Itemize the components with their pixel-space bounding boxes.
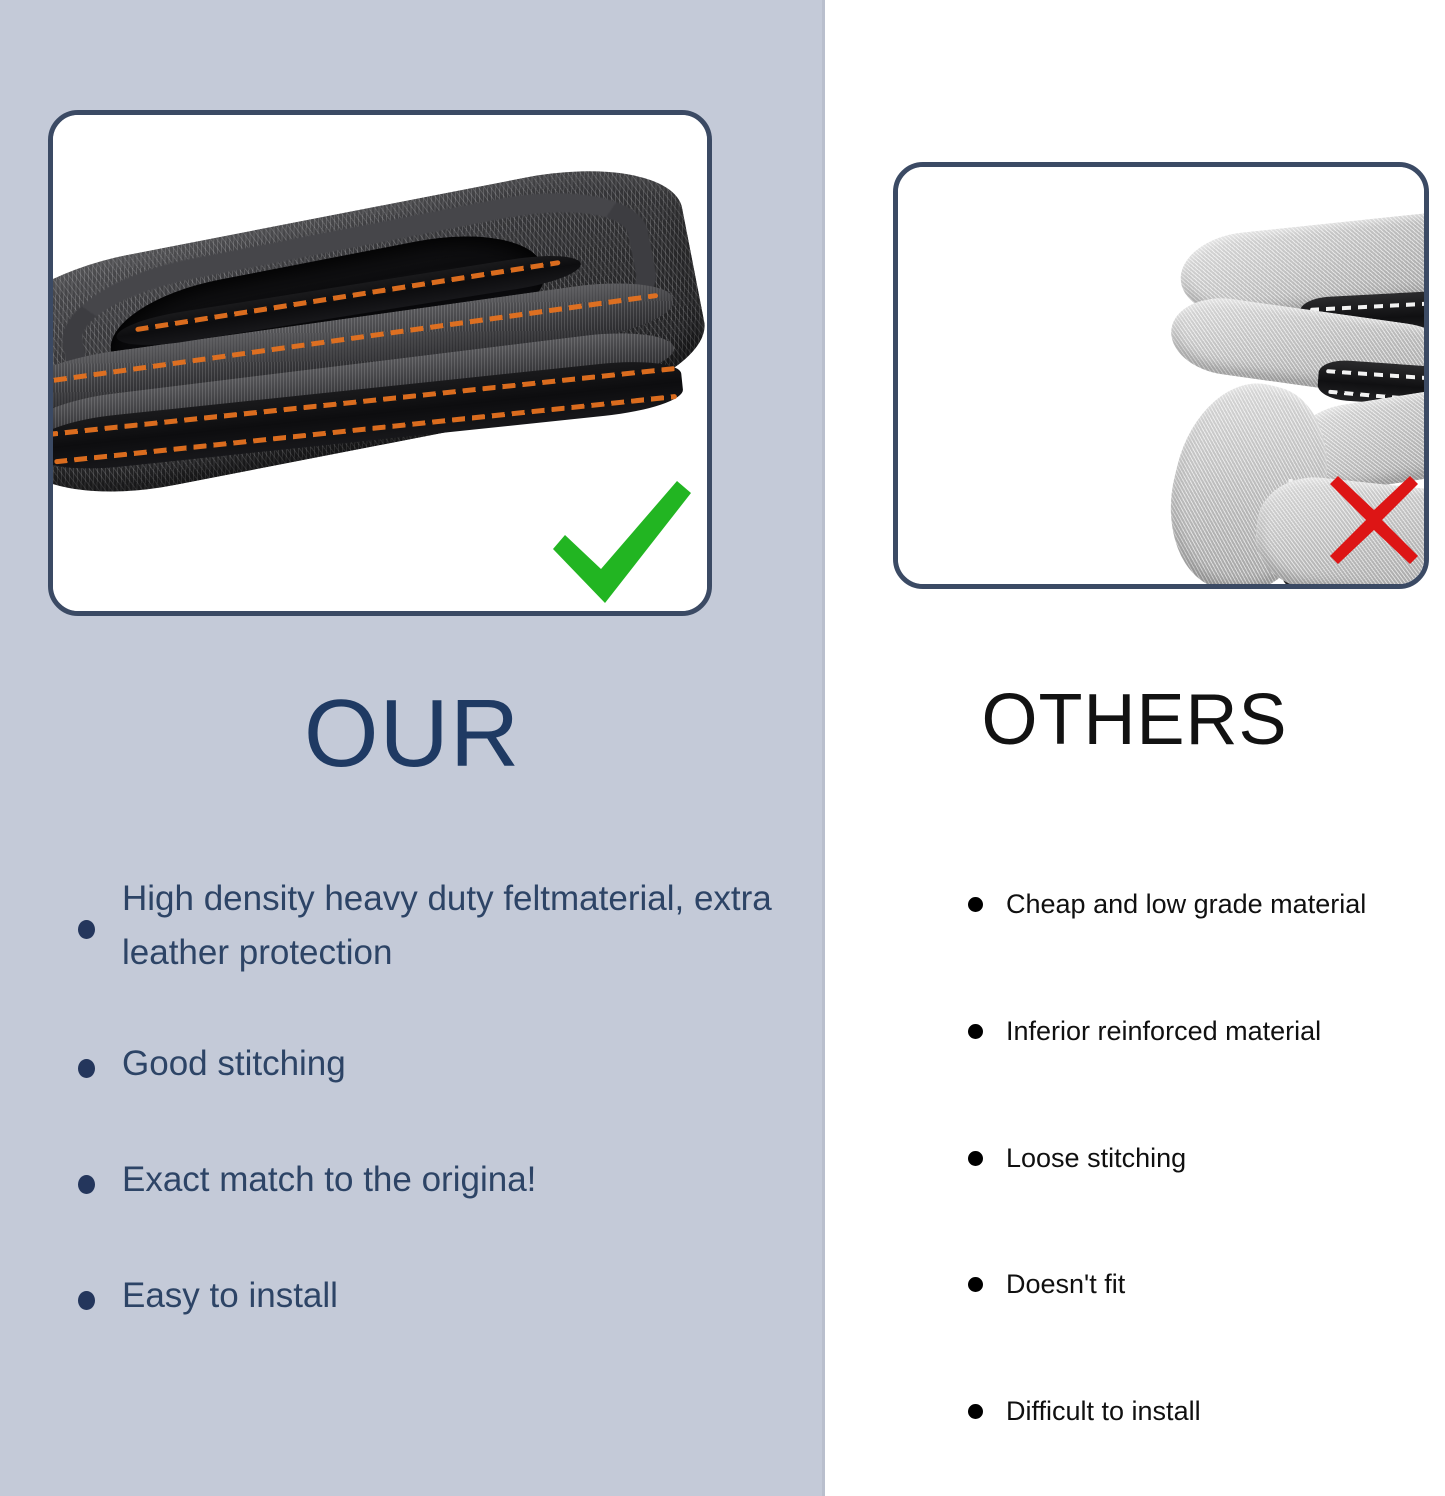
bullet-dot-icon xyxy=(968,1151,983,1166)
bullet-dot-icon xyxy=(968,1277,983,1292)
list-item: Doesn't fit xyxy=(960,1266,1430,1304)
ours-product-photo-frame xyxy=(48,110,712,616)
list-item: Easy to install xyxy=(70,1269,790,1323)
ours-product-photo xyxy=(53,115,707,611)
list-item: Inferior reinforced material xyxy=(960,1013,1430,1051)
gray-felt-strip-illustration xyxy=(1170,215,1429,589)
bullet-dot-icon xyxy=(968,1404,983,1419)
list-item-label: Loose stitching xyxy=(1006,1140,1430,1178)
list-item: Cheap and low grade material xyxy=(960,886,1430,924)
list-item-label: Easy to install xyxy=(122,1269,790,1323)
others-drawback-list: Cheap and low grade material Inferior re… xyxy=(960,886,1430,1496)
others-product-photo-frame xyxy=(893,162,1429,589)
list-item-label: High density heavy duty feltmaterial, ex… xyxy=(122,872,790,981)
ours-panel: OUR High density heavy duty feltmaterial… xyxy=(0,0,824,1496)
list-item: Exact match to the origina! xyxy=(70,1153,790,1207)
bullet-dot-icon xyxy=(968,897,983,912)
others-product-photo xyxy=(898,167,1424,584)
list-item-label: Cheap and low grade material xyxy=(1006,886,1430,924)
ours-feature-list: High density heavy duty feltmaterial, ex… xyxy=(70,872,790,1385)
list-item-label: Doesn't fit xyxy=(1006,1266,1430,1304)
list-item-label: Good stitching xyxy=(122,1037,790,1091)
list-item: Difficult to install xyxy=(960,1393,1430,1431)
list-item-label: Inferior reinforced material xyxy=(1006,1013,1430,1051)
bullet-dot-icon xyxy=(78,1059,95,1078)
list-item-label: Exact match to the origina! xyxy=(122,1153,790,1207)
list-item: High density heavy duty feltmaterial, ex… xyxy=(70,872,790,981)
others-heading: OTHERS xyxy=(824,684,1445,756)
bullet-dot-icon xyxy=(78,1291,95,1310)
bullet-dot-icon xyxy=(78,920,95,939)
list-item: Good stitching xyxy=(70,1037,790,1091)
list-item-label: Difficult to install xyxy=(1006,1393,1430,1431)
ours-heading: OUR xyxy=(0,686,824,782)
bullet-dot-icon xyxy=(968,1024,983,1039)
bullet-dot-icon xyxy=(78,1175,95,1194)
comparison-infographic: OUR High density heavy duty feltmaterial… xyxy=(0,0,1445,1496)
gray-felt-lobe xyxy=(1251,471,1429,589)
list-item: Loose stitching xyxy=(960,1140,1430,1178)
dark-felt-weatherstrip-illustration xyxy=(48,138,712,616)
